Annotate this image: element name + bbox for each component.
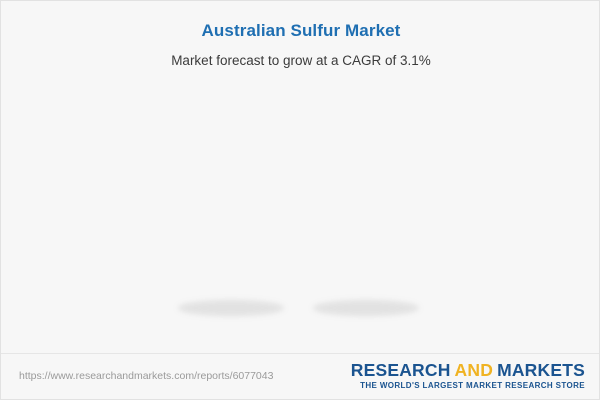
bar-shadow xyxy=(313,300,419,316)
logo-word-research: RESEARCH xyxy=(351,360,451,380)
brand-logo[interactable]: RESEARCHANDMARKETS THE WORLD'S LARGEST M… xyxy=(351,360,585,392)
report-url[interactable]: https://www.researchandmarkets.com/repor… xyxy=(19,370,273,382)
logo-word-markets: MARKETS xyxy=(497,360,585,380)
footer: https://www.researchandmarkets.com/repor… xyxy=(1,353,600,400)
chart-canvas: Australian Sulfur Market Market forecast… xyxy=(0,0,600,400)
logo-wordmark: RESEARCHANDMARKETS xyxy=(351,360,585,380)
logo-word-and: AND xyxy=(455,360,494,380)
bar-shadow xyxy=(178,300,284,316)
logo-tagline: THE WORLD'S LARGEST MARKET RESEARCH STOR… xyxy=(351,380,585,392)
plot-area: USD 196.78 Million 2025 USD 259 Million xyxy=(1,1,600,346)
